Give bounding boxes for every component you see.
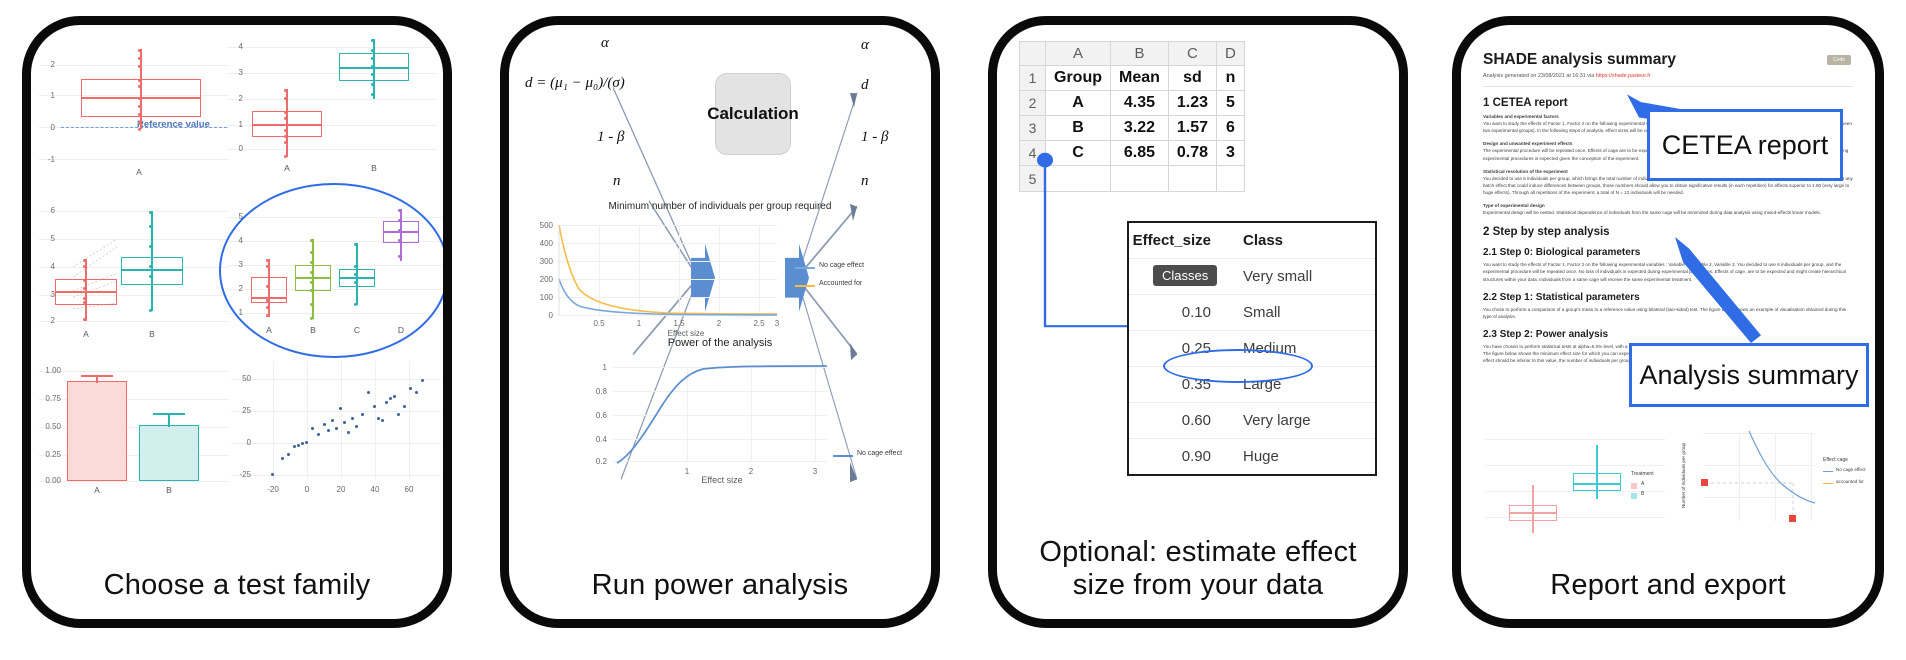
boxplot-whisker	[373, 39, 375, 99]
cell[interactable]	[1168, 166, 1216, 192]
input-power-label: 1 - β	[597, 129, 624, 146]
report-figure-boxplot: Treatment A B	[1485, 427, 1665, 537]
cell[interactable]	[1217, 166, 1245, 192]
y-tick: 500	[527, 221, 553, 230]
cell[interactable]: 3	[1217, 141, 1245, 166]
cell[interactable]: A	[1046, 91, 1111, 116]
panel-estimate-effect-size: A B C D 1 Group Mean sd n 2 A 4.35 1.23	[988, 16, 1408, 628]
output-power-label: 1 - β	[861, 129, 888, 146]
report-generated-line: Analysis generated on 23/08/2021 at 16:3…	[1483, 73, 1853, 79]
column-header-a[interactable]: A	[1046, 42, 1111, 66]
column-header-c[interactable]: C	[1168, 42, 1216, 66]
y-tick: 0.25	[39, 450, 61, 459]
chart-proportion-barplot: 1.00 0.75 0.50 0.25 0.00 A B	[39, 361, 229, 501]
legend-swatch-report-accounted	[1823, 483, 1833, 484]
section-2-1-text: You want to study the effects of Factor …	[1483, 261, 1853, 282]
x-tick: 2.5	[749, 319, 769, 328]
section-2-3-heading: 2.3 Step 2: Power analysis	[1483, 329, 1853, 340]
y-tick: 1	[39, 91, 55, 100]
legend-label-report-accounted: accounted for	[1836, 479, 1864, 484]
x-axis-label: Effect size	[667, 475, 777, 485]
legend-label-report-no-cage: No cage effect	[1836, 467, 1866, 472]
section-1-heading: 1 CETEA report	[1483, 97, 1853, 109]
cell[interactable]: 6.85	[1111, 141, 1169, 166]
y-tick: -1	[39, 155, 55, 164]
x-tick: 2	[709, 319, 729, 328]
bar	[139, 425, 199, 481]
panel-1-body: 2 1 0 -1 Reference value A	[31, 25, 443, 565]
cetea-report-callout: CETEA report	[1647, 109, 1843, 181]
calculation-box[interactable]: Calculation	[715, 73, 791, 155]
panel-2-body: α d = (μ₁ − μ₀)/(σ) 1 - β n Calculation …	[509, 25, 931, 565]
cell[interactable]: 6	[1217, 116, 1245, 141]
column-header-d[interactable]: D	[1217, 42, 1245, 66]
table-row: 1 Group Mean sd n	[1020, 66, 1245, 91]
x-tick: 0	[297, 485, 317, 494]
cell[interactable]: n	[1217, 66, 1245, 91]
output-n-label: n	[861, 173, 869, 190]
cell[interactable]: C	[1046, 141, 1111, 166]
output-alpha-label: α	[861, 37, 869, 54]
panel-choose-test-family: 2 1 0 -1 Reference value A	[22, 16, 452, 628]
y-tick: 2	[227, 94, 243, 103]
x-category: A	[89, 485, 105, 495]
cell[interactable]	[1111, 166, 1169, 192]
output-d-label: d	[861, 77, 869, 94]
input-n-label: n	[613, 173, 621, 190]
y-tick: 0.00	[39, 476, 61, 485]
effect-size-value: 0.10	[1129, 295, 1225, 331]
cell[interactable]: Mean	[1111, 66, 1169, 91]
cell[interactable]: Group	[1046, 66, 1111, 91]
x-tick: 40	[365, 485, 385, 494]
cell[interactable]: 1.23	[1168, 91, 1216, 116]
cell[interactable]: sd	[1168, 66, 1216, 91]
y-tick: 0.6	[585, 411, 607, 420]
legend-label-no-cage-effect: No cage effect	[819, 262, 864, 269]
x-tick: -20	[263, 485, 283, 494]
legend-swatch-accounted-for	[795, 285, 815, 287]
y-tick: 5	[39, 234, 55, 243]
y-tick: 50	[231, 374, 251, 383]
y-tick: 100	[527, 293, 553, 302]
legend-label-b: B	[1641, 491, 1644, 497]
cell[interactable]: B	[1046, 116, 1111, 141]
min-individuals-chart-title: Minimum number of individuals per group …	[509, 201, 931, 212]
section-2-1-heading: 2.1 Step 0: Biological parameters	[1483, 247, 1853, 258]
analysis-summary-callout-label: Analysis summary	[1639, 360, 1858, 391]
chart-paired-boxplot: 6 5 4 3 2	[39, 197, 229, 347]
spreadsheet-corner[interactable]	[1020, 42, 1046, 66]
x-category: B	[366, 163, 382, 173]
divider	[1483, 86, 1853, 87]
bar	[67, 381, 127, 481]
report-title: SHADE analysis summary	[1483, 51, 1853, 69]
section-1-block-4: Type of experimental design Experimental…	[1483, 202, 1853, 216]
code-toggle-button[interactable]: Code	[1827, 55, 1851, 65]
boxplot-whisker	[1596, 445, 1598, 499]
x-category: B	[144, 329, 160, 339]
effect-size-class: Very small	[1225, 259, 1375, 295]
block-lead: Design and unwanted experiment effects	[1483, 141, 1572, 146]
table-row: 5	[1020, 166, 1245, 192]
x-category: A	[131, 167, 147, 177]
y-tick: 3	[39, 290, 55, 299]
x-tick: 20	[331, 485, 351, 494]
panel-4-body: Code SHADE analysis summary Analysis gen…	[1461, 25, 1875, 565]
cell[interactable]: 3.22	[1111, 116, 1169, 141]
boxplot-whisker	[1532, 485, 1534, 533]
y-tick: 3	[227, 68, 243, 77]
block-lead: Statistical resolution of the experiment	[1483, 169, 1568, 174]
cell[interactable]: 1.57	[1168, 116, 1216, 141]
generated-prefix: Analysis generated on 23/08/2021 at 16:3…	[1483, 73, 1596, 79]
y-tick: -25	[231, 470, 251, 479]
analysis-summary-callout: Analysis summary	[1629, 343, 1869, 407]
y-tick: 25	[231, 406, 251, 415]
y-tick: 0.75	[39, 394, 61, 403]
multi-group-highlight-circle	[219, 183, 443, 358]
power-figure-ylabel: Number of individuals per group	[1681, 443, 1686, 508]
x-tick: 60	[399, 485, 419, 494]
table-row: 2 A 4.35 1.23 5	[1020, 91, 1245, 116]
panel-1-caption: Choose a test family	[31, 565, 443, 619]
cell[interactable]: 0.78	[1168, 141, 1216, 166]
row-number[interactable]: 3	[1020, 116, 1046, 141]
panel-3-caption: Optional: estimate effect size from your…	[997, 536, 1399, 619]
cetea-report-callout-label: CETEA report	[1662, 130, 1829, 161]
effect-size-class: Huge	[1225, 439, 1375, 475]
input-effect-size-label: d = (μ₁ − μ₀)/(σ)	[525, 75, 625, 92]
block-lead: Type of experimental design	[1483, 203, 1545, 208]
power-legend-title: Effect cage	[1823, 457, 1848, 463]
report-figure-power: Number of individuals per group Effect c…	[1673, 423, 1873, 541]
section-2-2-text: You chose to perform a comparison of a g…	[1483, 306, 1853, 320]
bar-errorbar-stem	[96, 375, 98, 383]
power-chart-title: Power of the analysis	[509, 337, 931, 349]
y-tick: 0.8	[585, 387, 607, 396]
y-tick: 4	[39, 262, 55, 271]
chart-min-individuals: 500 400 300 200 100 0 0.5 1 1.5 2 2.5 3 …	[527, 217, 917, 335]
x-tick: 0.5	[589, 319, 609, 328]
y-tick: 200	[527, 275, 553, 284]
class-column-header: Class	[1225, 223, 1375, 259]
y-tick: 2	[39, 60, 55, 69]
y-tick: 0	[231, 438, 251, 447]
effect-size-value: 0.90	[1129, 439, 1225, 475]
chart-power-of-analysis: 1 0.8 0.6 0.4 0.2 1 2 3 No cage effect E…	[527, 355, 917, 485]
table-row[interactable]: 0.60 Very large	[1129, 403, 1375, 439]
panel-run-power-analysis: α d = (μ₁ − μ₀)/(σ) 1 - β n Calculation …	[500, 16, 940, 628]
boxplot-whisker	[85, 259, 87, 321]
y-tick: 4	[227, 42, 243, 51]
data-spreadsheet[interactable]: A B C D 1 Group Mean sd n 2 A 4.35 1.23	[1019, 41, 1245, 192]
legend-swatch-b	[1631, 493, 1637, 499]
x-tick: 3	[805, 467, 825, 476]
y-tick: 0	[227, 144, 243, 153]
y-tick: 0	[527, 311, 553, 320]
x-tick: 3	[767, 319, 787, 328]
legend-label-accounted-for: Accounted for	[819, 280, 862, 287]
legend-label-power-no-cage-effect: No cage effect	[857, 450, 902, 457]
table-row[interactable]: 0.10 Small	[1129, 295, 1375, 331]
bar-errorbar-stem	[168, 413, 170, 427]
legend-label-a: A	[1641, 481, 1644, 487]
effect-size-column-header: Effect_size	[1129, 223, 1225, 259]
boxplot-whisker	[140, 49, 142, 129]
y-tick: 0	[39, 123, 55, 132]
table-row[interactable]: 0.90 Huge	[1129, 439, 1375, 475]
legend-swatch-a	[1631, 483, 1637, 489]
y-tick: 0.2	[585, 457, 607, 466]
y-tick: 2	[39, 316, 55, 325]
figure-legend-title: Treatment	[1631, 471, 1654, 477]
workflow-board: 2 1 0 -1 Reference value A	[0, 0, 1906, 660]
y-tick: 300	[527, 257, 553, 266]
x-tick: 1.5	[669, 319, 689, 328]
legend-swatch-report-no-cage	[1823, 471, 1833, 472]
panel-3-body: A B C D 1 Group Mean sd n 2 A 4.35 1.23	[997, 25, 1399, 536]
y-tick: 0.4	[585, 435, 607, 444]
row-number[interactable]: 1	[1020, 66, 1046, 91]
cell[interactable]: 5	[1217, 91, 1245, 116]
chart-one-sample-boxplot: 2 1 0 -1 Reference value A	[39, 35, 229, 185]
block-text: Experimental design will be nested. Stat…	[1483, 210, 1821, 215]
panel-4-caption: Report and export	[1461, 565, 1875, 619]
shade-url-link[interactable]: https://shade.pasteur.fr	[1596, 73, 1651, 79]
reference-value-label: Reference value	[137, 119, 210, 130]
effect-size-header-row: Effect_size Class	[1129, 223, 1375, 259]
min-individuals-curves	[527, 217, 917, 335]
cell[interactable]: 4.35	[1111, 91, 1169, 116]
spreadsheet-header-row: A B C D	[1020, 42, 1245, 66]
panel-2-caption: Run power analysis	[509, 565, 931, 619]
x-tick: 1	[629, 319, 649, 328]
section-2-heading: 2 Step by step analysis	[1483, 226, 1853, 238]
y-tick: 400	[527, 239, 553, 248]
classes-tooltip: Classes	[1153, 265, 1217, 286]
legend-swatch-no-cage-effect	[795, 267, 815, 269]
y-tick: 1	[227, 120, 243, 129]
panel-report-and-export: Code SHADE analysis summary Analysis gen…	[1452, 16, 1884, 628]
column-header-b[interactable]: B	[1111, 42, 1169, 66]
effect-size-class: Very large	[1225, 403, 1375, 439]
table-row: 3 B 3.22 1.57 6	[1020, 116, 1245, 141]
y-tick: 1.00	[39, 366, 61, 375]
section-2-2-heading: 2.2 Step 1: Statistical parameters	[1483, 292, 1853, 303]
effect-size-value: 0.60	[1129, 403, 1225, 439]
row-number[interactable]: 5	[1020, 166, 1046, 192]
row-number[interactable]: 4	[1020, 141, 1046, 166]
y-tick: 6	[39, 206, 55, 215]
input-alpha-label: α	[601, 35, 609, 52]
x-category: A	[279, 163, 295, 173]
cell[interactable]	[1046, 166, 1111, 192]
block-lead: Variables and experimental factors	[1483, 114, 1559, 119]
legend-swatch-power-no-cage-effect	[833, 455, 853, 457]
effect-size-class: Small	[1225, 295, 1375, 331]
row-number[interactable]: 2	[1020, 91, 1046, 116]
y-tick: 1	[585, 363, 607, 372]
chart-two-sample-boxplot: 4 3 2 1 0	[227, 31, 437, 186]
x-category: B	[161, 485, 177, 495]
x-category: A	[78, 329, 94, 339]
table-row: 4 C 6.85 0.78 3	[1020, 141, 1245, 166]
y-tick: 0.50	[39, 422, 61, 431]
chart-correlation-scatter: 50 25 0 -25 -20 0 20 40 60	[231, 361, 441, 501]
large-row-highlight-ellipse	[1163, 349, 1313, 383]
